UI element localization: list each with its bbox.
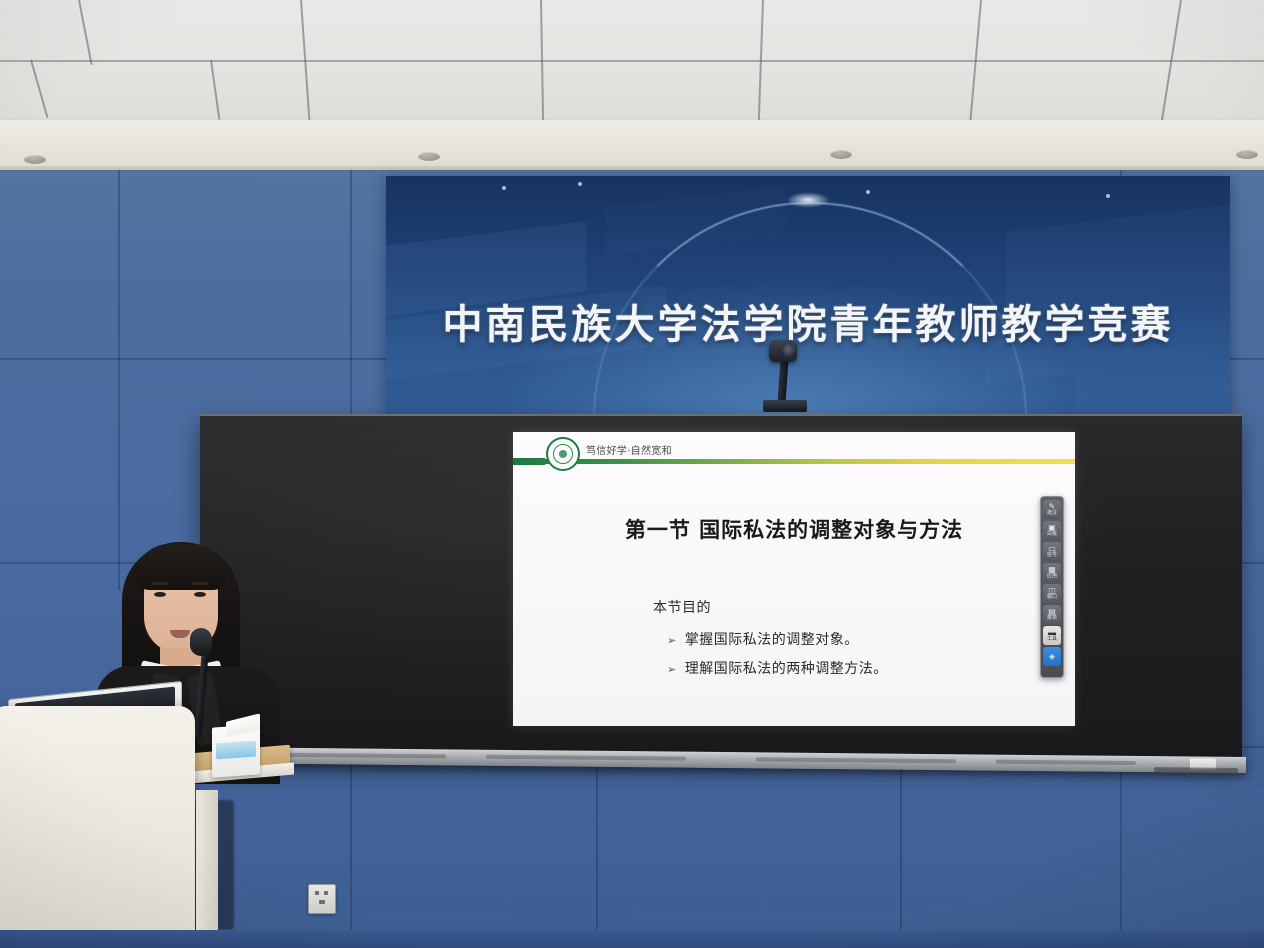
toolbar-button-label: 菜单 <box>1047 616 1057 621</box>
ceiling-downlight <box>418 152 440 161</box>
ceiling-downlight <box>830 150 852 159</box>
presentation-slide: 笃信好学·自然宽和 第一节 国际私法的调整对象与方法 本节目的 ➢ 掌握国际私法… <box>513 432 1075 726</box>
ceiling-camera <box>765 340 801 418</box>
slide-bullet-item: ➢ 掌握国际私法的调整对象。 <box>667 629 1043 649</box>
slide-body-lead: 本节目的 <box>653 597 1043 617</box>
keyboard-icon[interactable]: ▬工具 <box>1043 626 1061 645</box>
screen-icon[interactable]: ▣白板 <box>1043 521 1061 540</box>
toolbar-button-label: 窗口 <box>1047 595 1057 600</box>
toolbar-button-label: 批注 <box>1047 511 1057 516</box>
toolbar-button-label: 工具 <box>1047 637 1057 642</box>
ceiling <box>0 0 1264 128</box>
slide-title: 第一节 国际私法的调整对象与方法 <box>513 514 1075 544</box>
ceiling-downlight <box>24 155 46 164</box>
camera-lens <box>783 344 797 358</box>
toolbar-button-label: 白板 <box>1047 532 1057 537</box>
banner-light-dot <box>578 182 582 186</box>
toolbar-button-label: 应用 <box>1047 574 1057 579</box>
banner-light-dot <box>502 186 506 190</box>
slide-headbar <box>513 459 1075 464</box>
grid-icon[interactable]: ▦应用 <box>1043 563 1061 582</box>
window-icon[interactable]: ◫窗口 <box>1043 584 1061 603</box>
pen-icon[interactable]: ✎批注 <box>1043 500 1061 519</box>
slide-bullet-text: 理解国际私法的两种调整方法。 <box>685 658 888 678</box>
display-control-keys[interactable] <box>1154 767 1238 776</box>
ceiling-soffit <box>0 120 1264 172</box>
lectern-post <box>196 790 218 948</box>
slide-bullet-text: 掌握国际私法的调整对象。 <box>685 629 859 649</box>
lectern <box>0 706 195 948</box>
tissue-box <box>212 724 260 777</box>
university-emblem-icon <box>546 437 580 471</box>
banner-title: 中南民族大学法学院青年教师教学竞赛 <box>386 292 1230 350</box>
lecture-hall-photo: 中南民族大学法学院青年教师教学竞赛 笃信好学·自然宽和 第一节 国际私法的调整对… <box>0 0 1264 948</box>
university-motto: 笃信好学·自然宽和 <box>586 442 672 457</box>
floor <box>0 930 1264 948</box>
ceiling-downlight <box>1236 150 1258 159</box>
bullet-arrow-icon: ➢ <box>667 664 677 675</box>
banner-light-dot <box>866 190 870 194</box>
interactive-display[interactable]: 笃信好学·自然宽和 第一节 国际私法的调整对象与方法 本节目的 ➢ 掌握国际私法… <box>200 414 1242 760</box>
display-side-toolbar[interactable]: ✎批注 ▣白板 ▭信号 ▦应用 ◫窗口 ▤菜单 ▬工具 ◈ <box>1040 496 1064 678</box>
event-banner: 中南民族大学法学院青年教师教学竞赛 <box>386 176 1230 414</box>
slide-header: 笃信好学·自然宽和 <box>513 432 1075 470</box>
monitor-icon[interactable]: ▭信号 <box>1043 542 1061 561</box>
wall-power-outlet[interactable] <box>308 884 336 914</box>
banner-light-dot <box>1106 194 1110 198</box>
slide-bullet-item: ➢ 理解国际私法的两种调整方法。 <box>667 658 1043 678</box>
assistant-icon[interactable]: ◈ <box>1043 647 1061 666</box>
bullet-arrow-icon: ➢ <box>667 635 677 646</box>
slide-body: 本节目的 ➢ 掌握国际私法的调整对象。 ➢ 理解国际私法的两种调整方法。 <box>653 597 1043 687</box>
list-icon[interactable]: ▤菜单 <box>1043 605 1061 624</box>
toolbar-button-label: 信号 <box>1047 553 1057 558</box>
banner-arc-glow <box>786 192 830 208</box>
